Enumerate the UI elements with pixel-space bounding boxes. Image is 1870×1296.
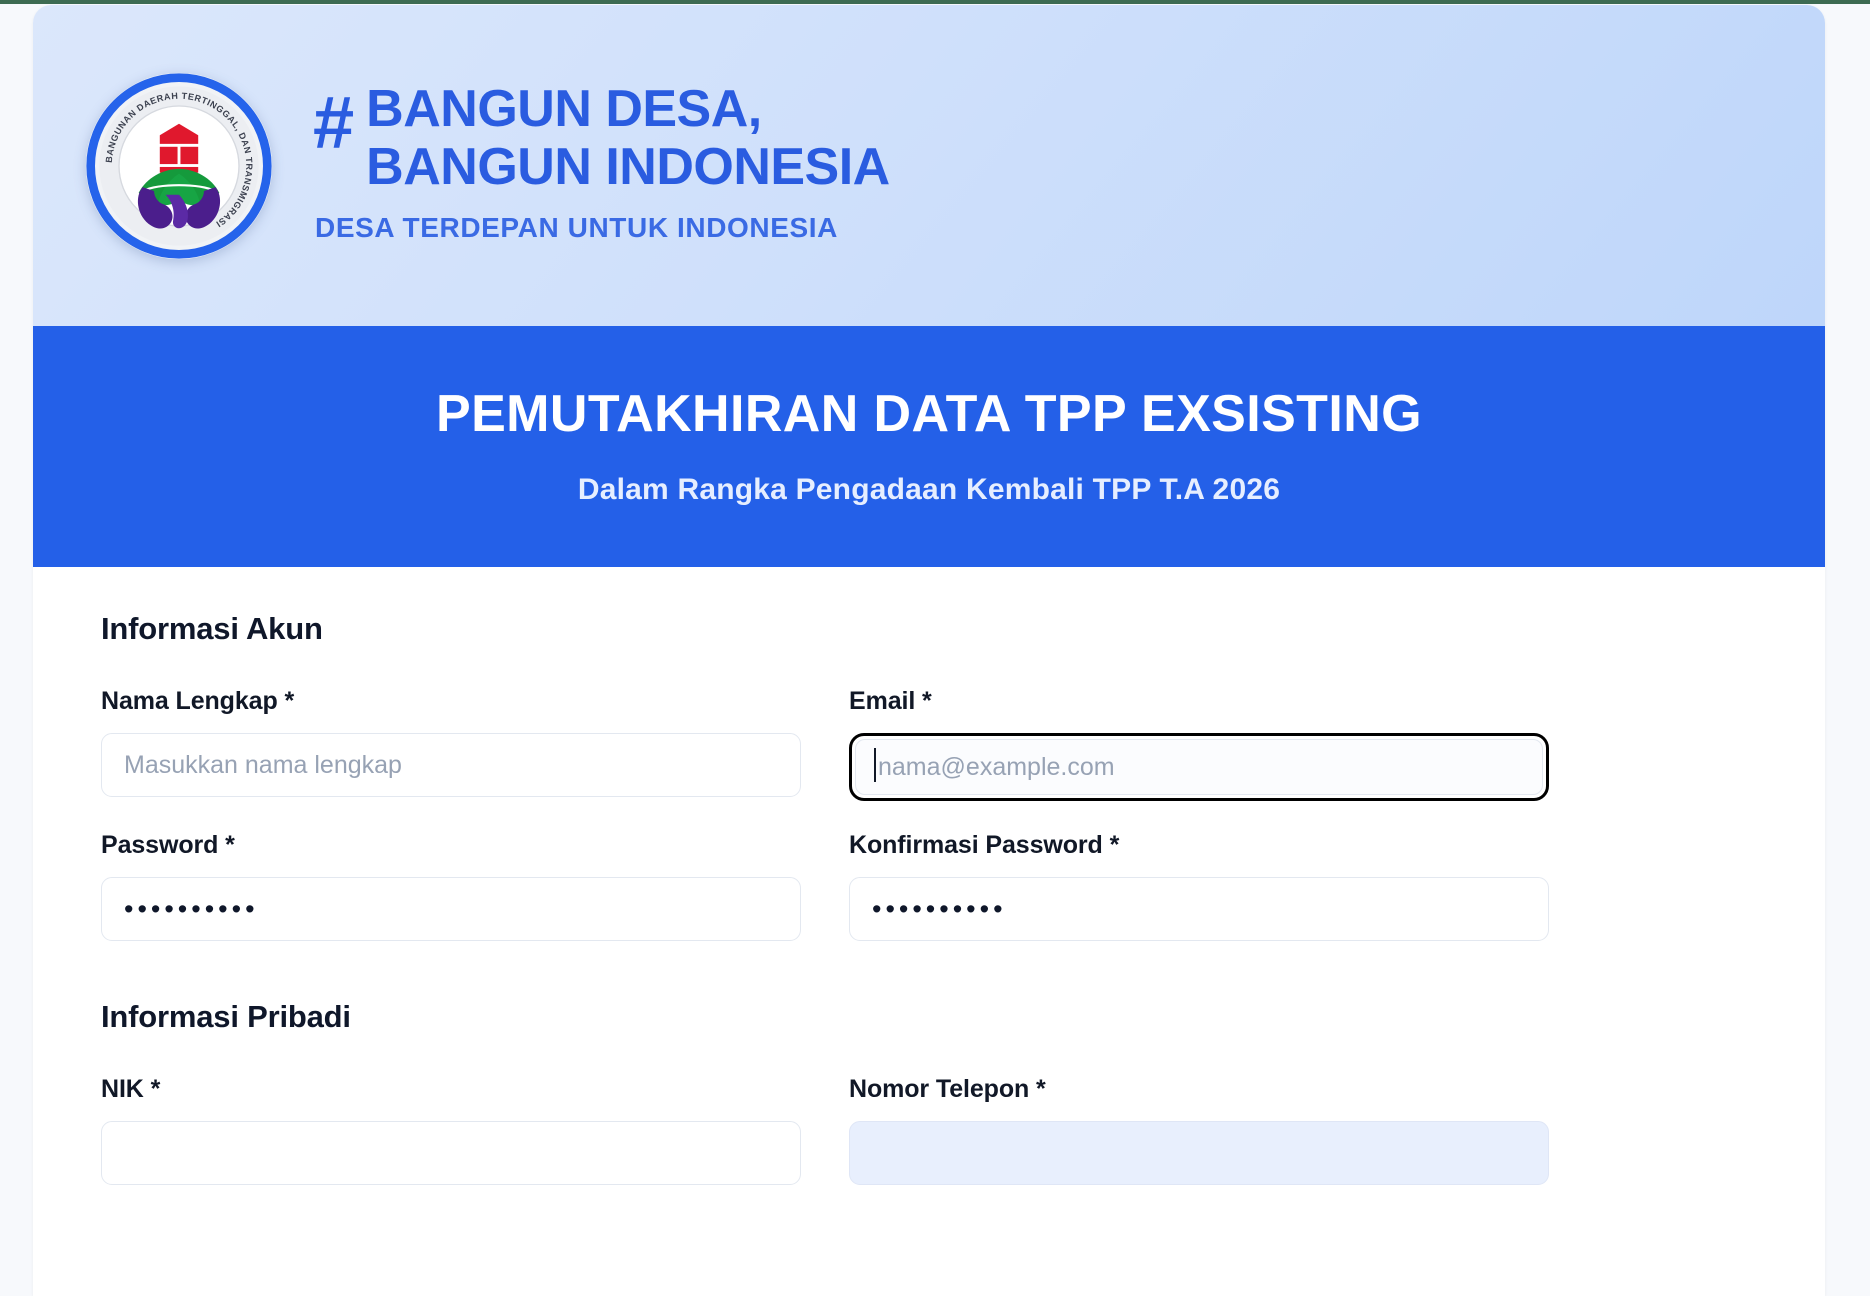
page-subtitle: Dalam Rangka Pengadaan Kembali TPP T.A 2… — [578, 473, 1280, 507]
registration-card: KEMENTERIAN DESA, PEMBANGUNAN DAERAH TER… — [33, 5, 1825, 1296]
page-title: PEMUTAKHIRAN DATA TPP EXSISTING — [436, 386, 1422, 443]
slogan-line-2: BANGUN INDONESIA — [366, 139, 890, 197]
field-email: Email * — [849, 687, 1549, 801]
slogan-line-1: BANGUN DESA, — [366, 81, 890, 139]
field-nik: NIK * — [101, 1075, 801, 1185]
top-accent-strip — [0, 0, 1870, 4]
section-heading-personal: Informasi Pribadi — [101, 999, 1757, 1035]
label-nomor-telepon: Nomor Telepon * — [849, 1075, 1549, 1104]
page-title-banner: PEMUTAKHIRAN DATA TPP EXSISTING Dalam Ra… — [33, 326, 1825, 567]
registration-form: Informasi Akun Nama Lengkap * Email * Pa… — [33, 567, 1825, 1225]
input-password[interactable] — [101, 877, 801, 941]
label-nik: NIK * — [101, 1075, 801, 1104]
input-nama-lengkap[interactable] — [101, 733, 801, 797]
personal-fields-grid: NIK * Nomor Telepon * — [101, 1075, 1757, 1185]
text-cursor-icon — [874, 748, 876, 782]
email-focus-ring — [849, 733, 1549, 801]
field-nama-lengkap: Nama Lengkap * — [101, 687, 801, 801]
account-fields-grid: Nama Lengkap * Email * Password * Konfir… — [101, 687, 1757, 941]
label-nama-lengkap: Nama Lengkap * — [101, 687, 801, 716]
ministry-crest-logo: KEMENTERIAN DESA, PEMBANGUNAN DAERAH TER… — [83, 70, 275, 262]
field-nomor-telepon: Nomor Telepon * — [849, 1075, 1549, 1185]
page-root: KEMENTERIAN DESA, PEMBANGUNAN DAERAH TER… — [0, 0, 1870, 1296]
brand-tagline: DESA TERDEPAN UNTUK INDONESIA — [315, 212, 890, 244]
section-heading-account: Informasi Akun — [101, 611, 1757, 647]
brand-text-block: # BANGUN DESA, BANGUN INDONESIA DESA TER… — [313, 81, 890, 250]
label-email: Email * — [849, 687, 1549, 716]
input-nik[interactable] — [101, 1121, 801, 1185]
label-password: Password * — [101, 831, 801, 860]
input-konfirmasi-password[interactable] — [849, 877, 1549, 941]
field-konfirmasi-password: Konfirmasi Password * — [849, 831, 1549, 941]
brand-header: KEMENTERIAN DESA, PEMBANGUNAN DAERAH TER… — [33, 5, 1825, 326]
input-email[interactable] — [855, 739, 1543, 795]
field-password: Password * — [101, 831, 801, 941]
hashtag-symbol: # — [313, 87, 352, 158]
label-konfirmasi-password: Konfirmasi Password * — [849, 831, 1549, 860]
input-nomor-telepon[interactable] — [849, 1121, 1549, 1185]
